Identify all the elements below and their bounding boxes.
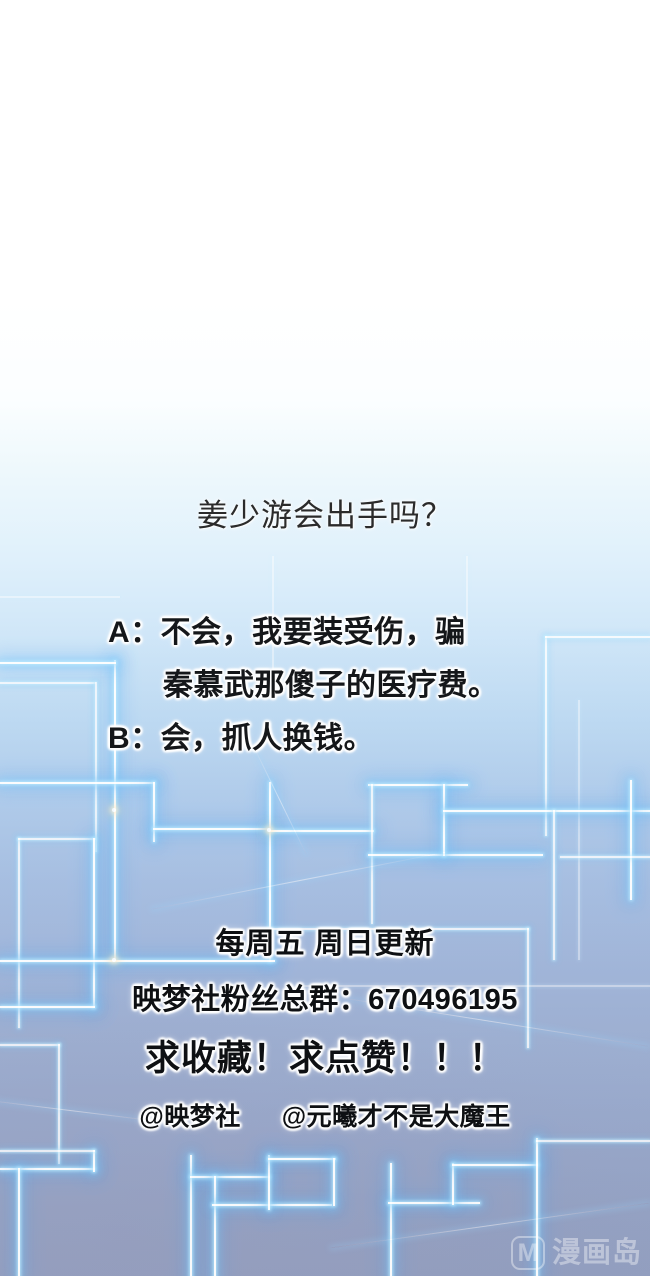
comic-end-panel: 姜少游会出手吗？ A：不会，我要装受伤，骗 秦慕武那傻子的医疗费。 B：会，抓人… — [0, 0, 650, 1276]
site-watermark: M 漫画岛 — [511, 1236, 642, 1270]
option-a-line-2: 秦慕武那傻子的医疗费。 — [108, 659, 568, 712]
credit-author: @元曦才不是大魔王 — [282, 1103, 511, 1131]
credit-studio: @映梦社 — [139, 1103, 240, 1131]
fan-group-number: 映梦社粉丝总群：670496195 — [0, 976, 650, 1018]
option-a-line-1: A：不会，我要装受伤，骗 — [108, 606, 568, 659]
option-b-line-1: B：会，抓人换钱。 — [108, 712, 568, 765]
options-list: A：不会，我要装受伤，骗 秦慕武那傻子的医疗费。 B：会，抓人换钱。 — [108, 606, 568, 765]
call-to-action: 求收藏！求点赞！！！ — [0, 1030, 650, 1081]
update-schedule: 每周五 周日更新 — [0, 920, 650, 962]
question-title: 姜少游会出手吗？ — [0, 490, 650, 535]
credits-row: @映梦社 @元曦才不是大魔王 — [0, 1097, 650, 1133]
watermark-label: 漫画岛 — [552, 1239, 642, 1268]
footer-block: 每周五 周日更新 映梦社粉丝总群：670496195 求收藏！求点赞！！！ @映… — [0, 920, 650, 1133]
text-layer: 姜少游会出手吗？ A：不会，我要装受伤，骗 秦慕武那傻子的医疗费。 B：会，抓人… — [0, 0, 650, 1276]
watermark-logo-icon: M — [511, 1236, 545, 1270]
